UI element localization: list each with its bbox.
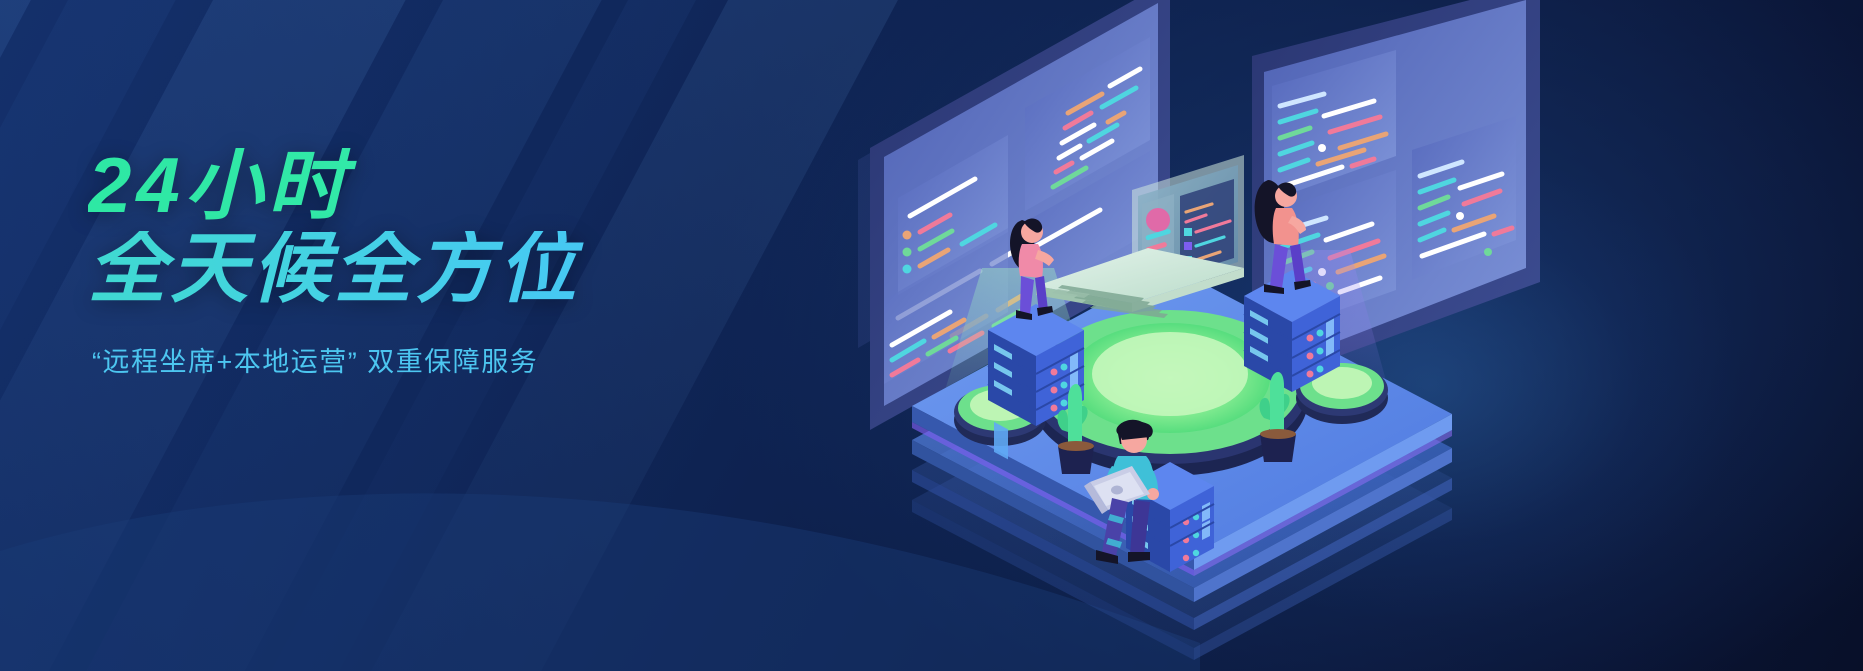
server-rack-right	[1244, 270, 1340, 392]
banner-copy: 24小时 全天候全方位 “远程坐席+本地运营” 双重保障服务	[88, 148, 848, 379]
page-title: 24小时 全天候全方位	[88, 148, 848, 306]
headline-line-1: 24小时	[88, 148, 848, 223]
banner-subtitle: “远程坐席+本地运营” 双重保障服务	[92, 340, 848, 379]
isometric-illustration	[840, 0, 1863, 671]
promo-banner: 24小时 全天候全方位 “远程坐席+本地运营” 双重保障服务	[0, 0, 1863, 671]
headline-line-2: 全天候全方位	[88, 231, 848, 306]
